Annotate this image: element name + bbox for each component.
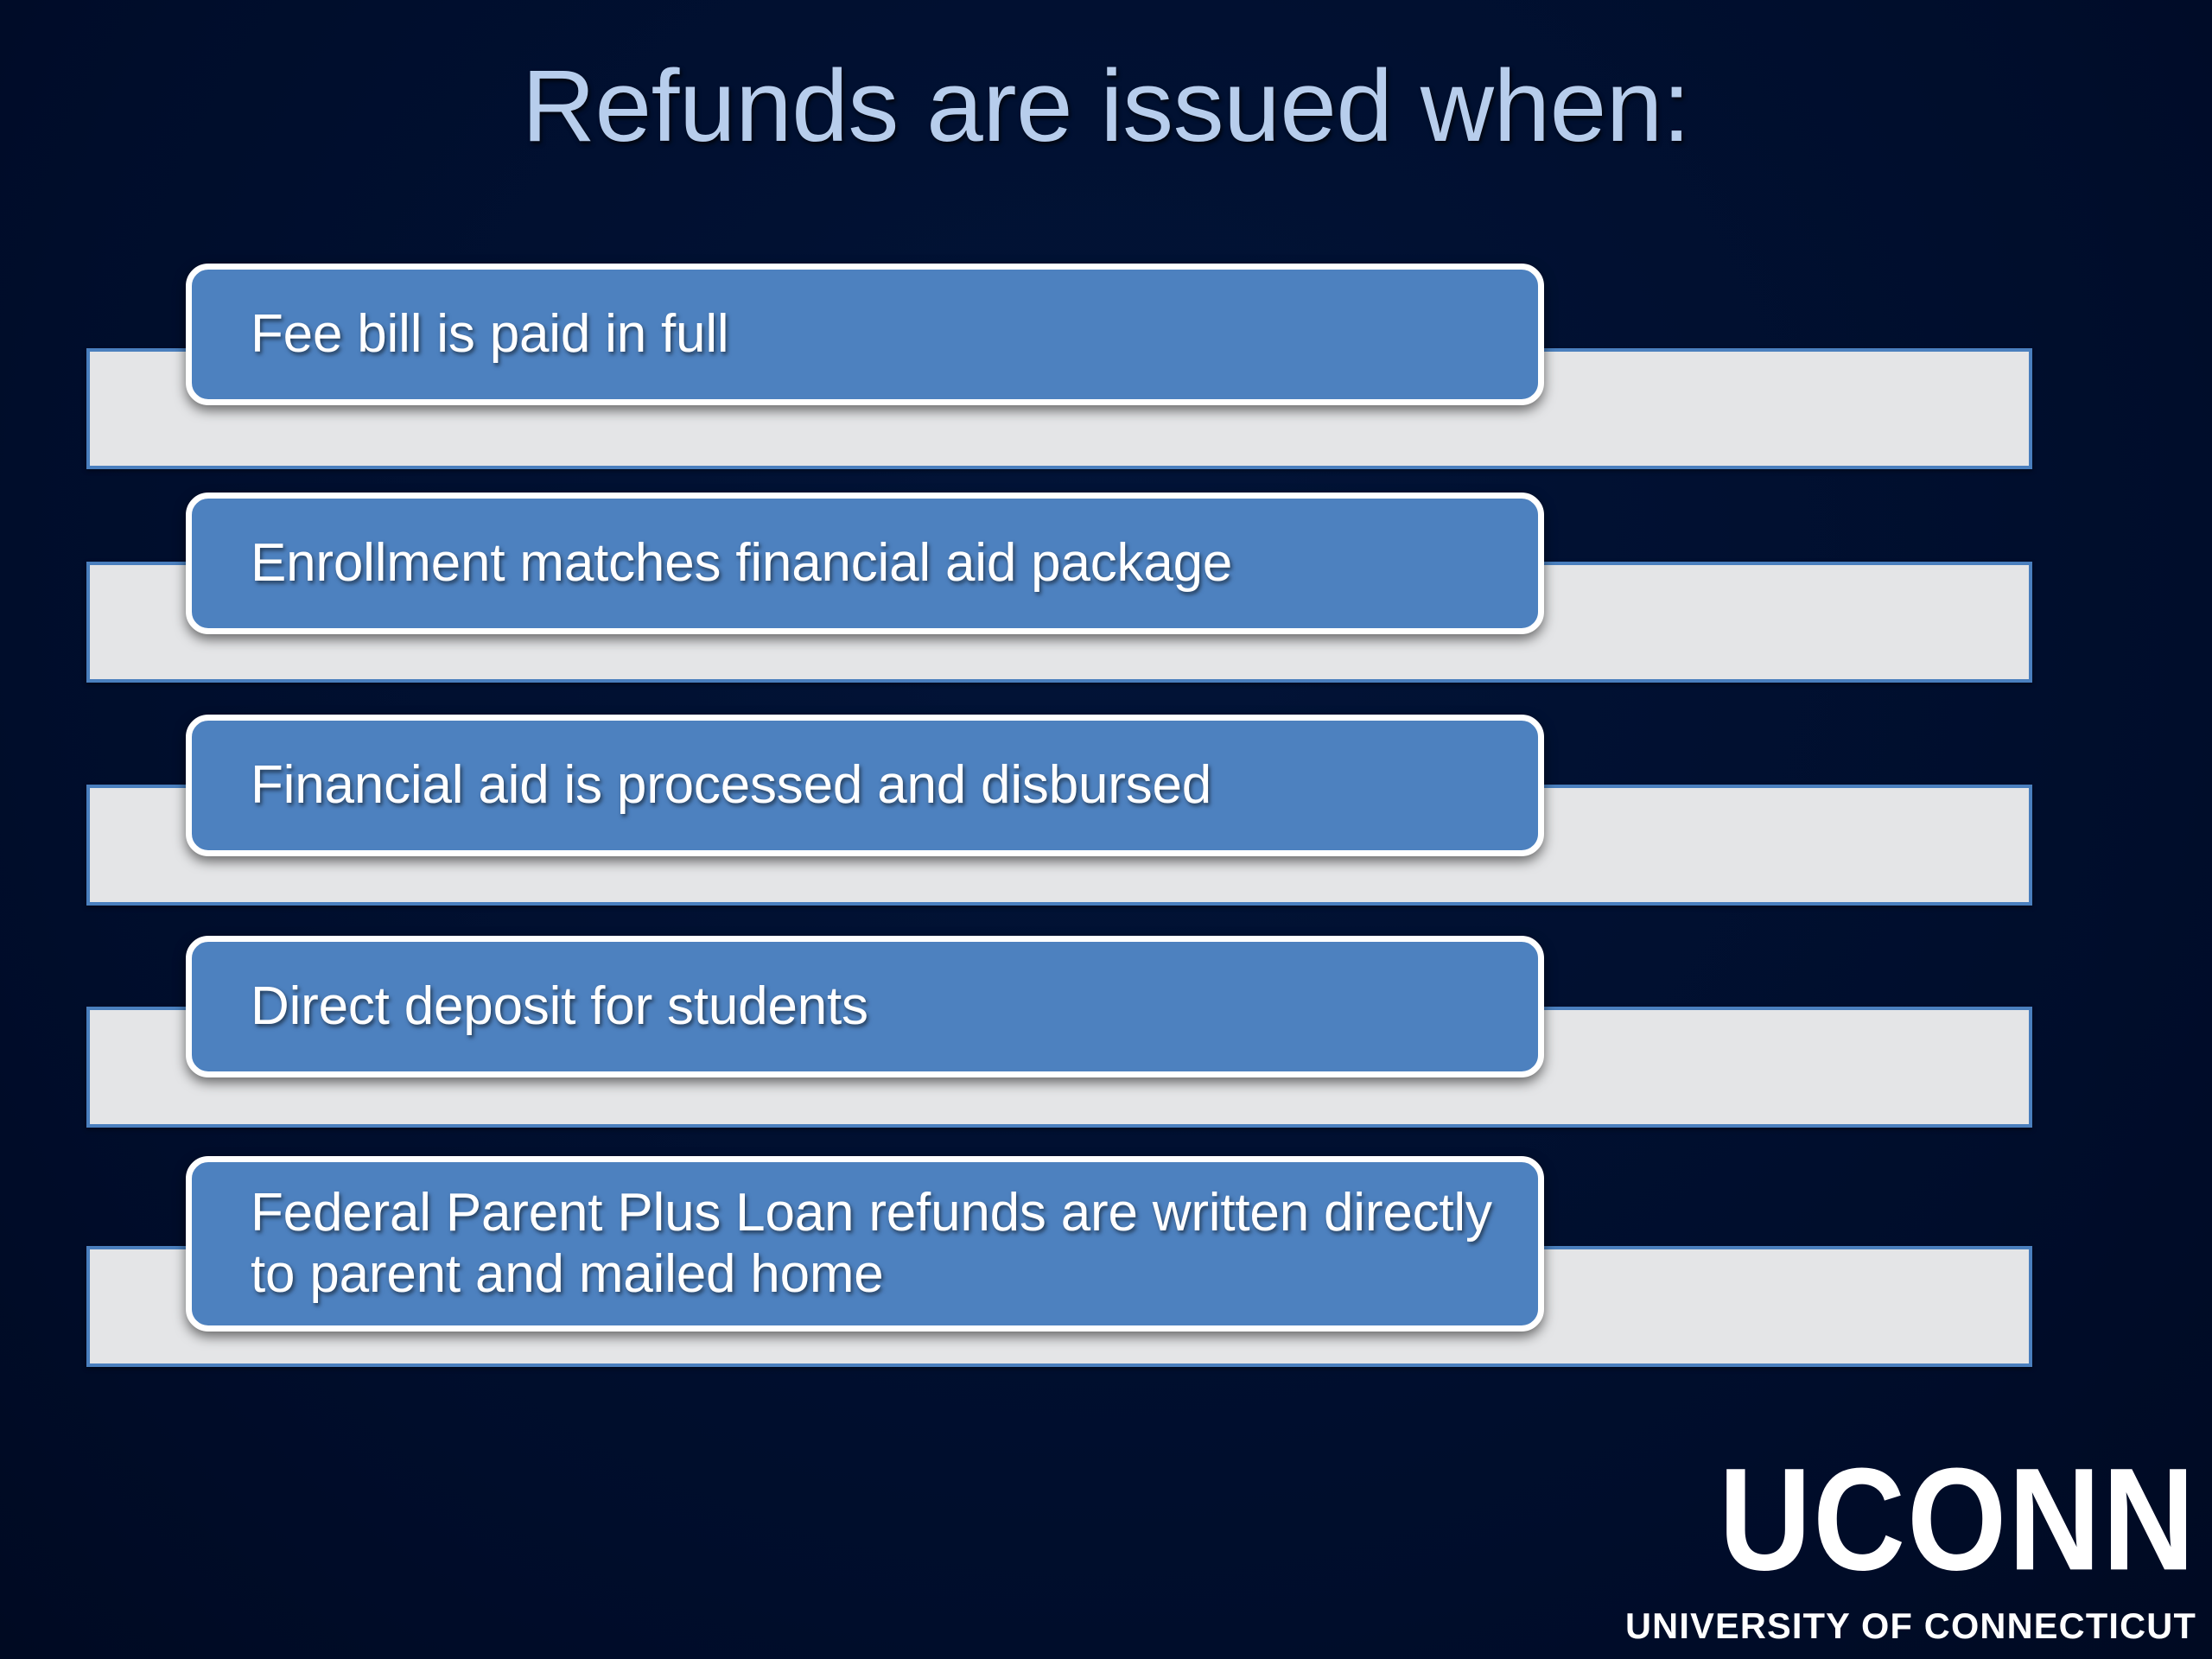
callout-label: Enrollment matches financial aid package <box>251 533 1232 594</box>
callout-chip[interactable]: Federal Parent Plus Loan refunds are wri… <box>186 1156 1544 1332</box>
callout-chip[interactable]: Fee bill is paid in full <box>186 264 1544 405</box>
uconn-logo: UCONN UNIVERSITY OF CONNECTICUT <box>1592 1468 2196 1647</box>
page-title: Refunds are issued when: <box>0 54 2212 161</box>
callout-label: Direct deposit for students <box>251 976 868 1038</box>
callout-label: Financial aid is processed and disbursed <box>251 755 1211 817</box>
slide-canvas: Refunds are issued when: Fee bill is pai… <box>0 0 2212 1659</box>
callout-chip[interactable]: Enrollment matches financial aid package <box>186 493 1544 634</box>
callout-chip[interactable]: Financial aid is processed and disbursed <box>186 715 1544 856</box>
callout-label: Fee bill is paid in full <box>251 304 728 365</box>
uconn-wordmark: UCONN <box>1592 1451 2196 1588</box>
callout-chip[interactable]: Direct deposit for students <box>186 936 1544 1077</box>
uconn-tagline: UNIVERSITY OF CONNECTICUT <box>1592 1605 2196 1647</box>
callout-label: Federal Parent Plus Loan refunds are wri… <box>251 1183 1538 1305</box>
